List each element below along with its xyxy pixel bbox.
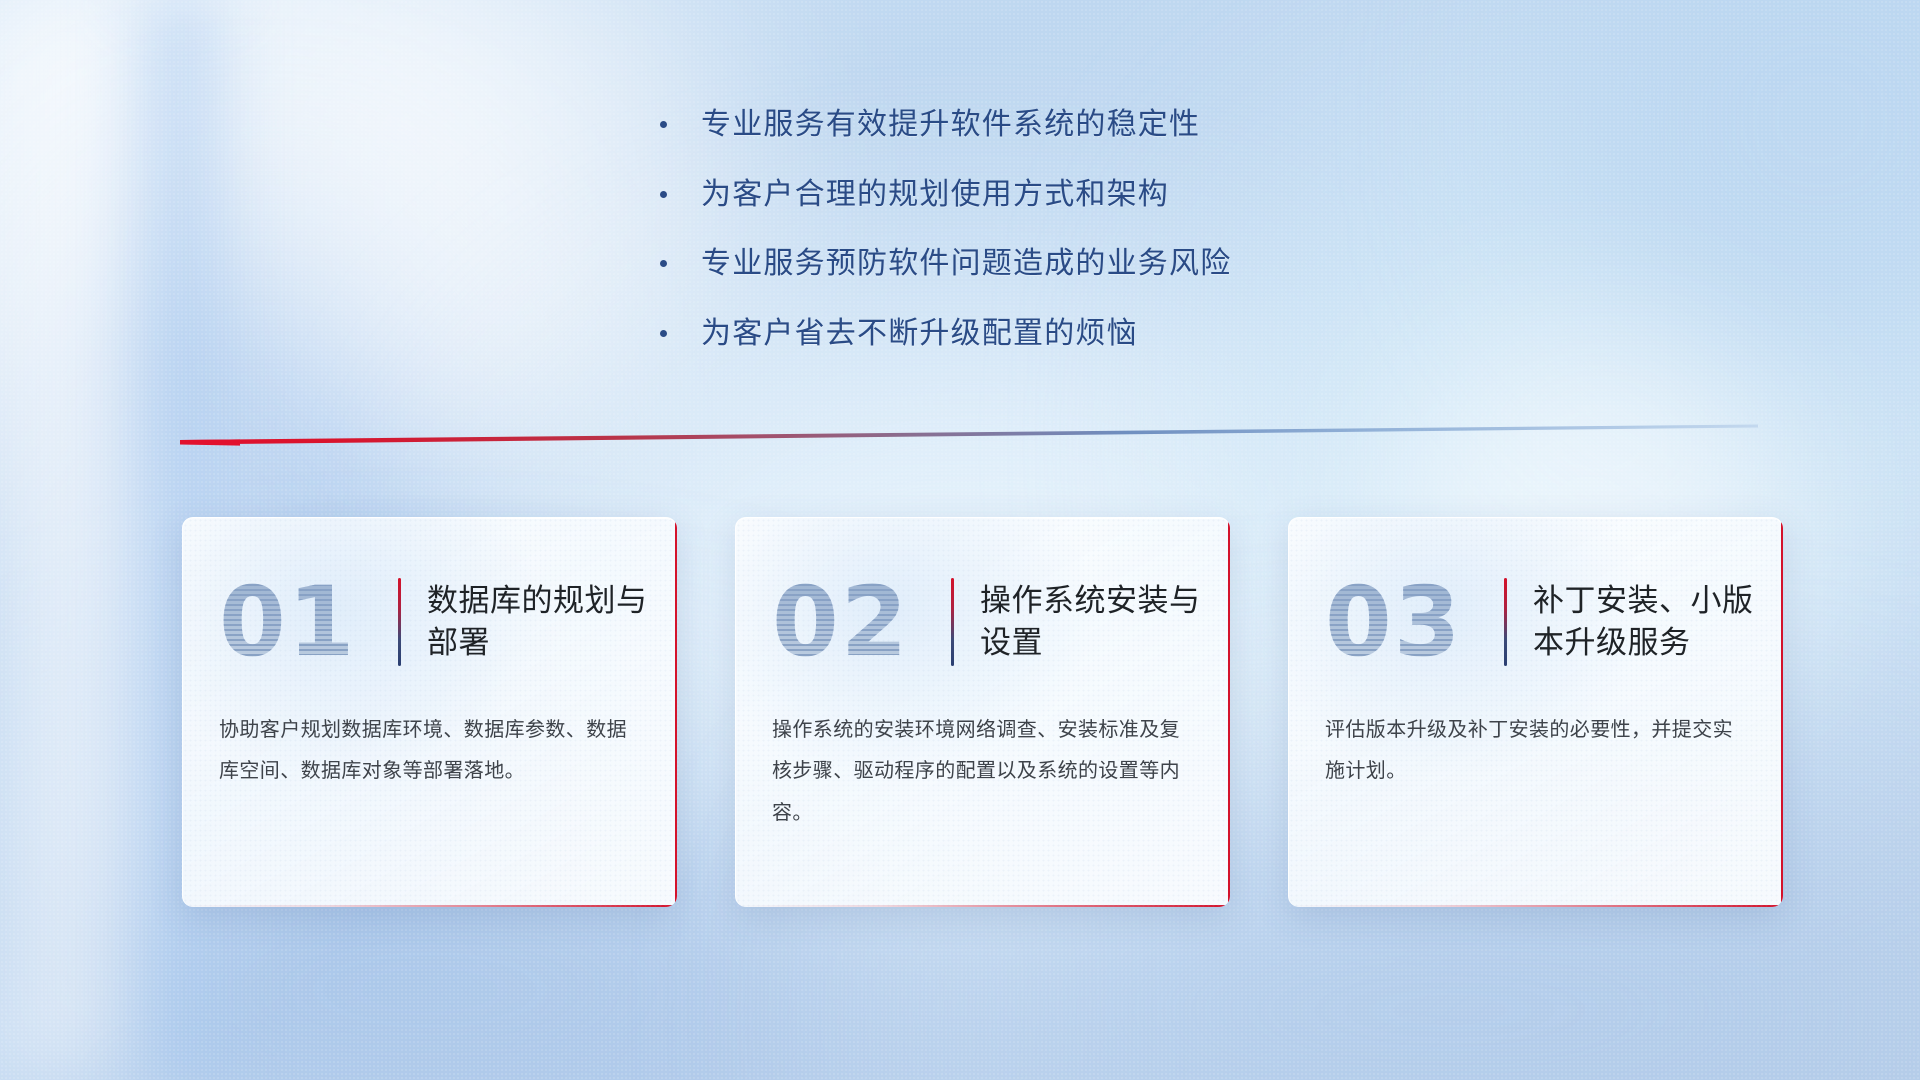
service-card[interactable]: 01 数据库的规划与部署 协助客户规划数据库环境、数据库参数、数据库空间、数据库… [182,517,677,907]
bullet-dot-icon [660,260,667,267]
card-accent-bar [398,578,401,666]
list-item: 专业服务有效提升软件系统的稳定性 [660,108,1231,143]
card-description: 协助客户规划数据库环境、数据库参数、数据库空间、数据库对象等部署落地。 [183,678,677,793]
section-divider [180,424,1758,450]
card-title: 补丁安装、小版本升级服务 [1533,580,1783,663]
list-item: 专业服务预防软件问题造成的业务风险 [660,247,1231,282]
card-number-watermark: 02 [772,574,951,670]
bullet-text: 专业服务有效提升软件系统的稳定性 [701,108,1200,143]
bullet-text: 为客户合理的规划使用方式和架构 [701,178,1169,213]
list-item: 为客户省去不断升级配置的烦恼 [660,317,1231,352]
card-number-watermark: 03 [1325,574,1504,670]
card-description: 操作系统的安装环境网络调查、安装标准及复核步骤、驱动程序的配置以及系统的设置等内… [736,678,1230,834]
bullet-text: 专业服务预防软件问题造成的业务风险 [701,247,1231,282]
card-title: 操作系统安装与设置 [980,580,1230,663]
card-accent-bar [1504,578,1507,666]
service-card-group: 01 数据库的规划与部署 协助客户规划数据库环境、数据库参数、数据库空间、数据库… [182,517,1783,907]
bullet-dot-icon [660,330,667,337]
card-header: 02 操作系统安装与设置 [736,518,1230,678]
card-number-watermark: 01 [219,574,398,670]
bullet-dot-icon [660,191,667,198]
benefits-bullet-list: 专业服务有效提升软件系统的稳定性 为客户合理的规划使用方式和架构 专业服务预防软… [660,108,1231,351]
service-card[interactable]: 03 补丁安装、小版本升级服务 评估版本升级及补丁安装的必要性，并提交实施计划。 [1288,517,1783,907]
card-accent-bar [951,578,954,666]
divider-line-icon [180,424,1758,450]
bullet-dot-icon [660,121,667,128]
card-header: 01 数据库的规划与部署 [183,518,677,678]
card-description: 评估版本升级及补丁安装的必要性，并提交实施计划。 [1289,678,1783,793]
card-header: 03 补丁安装、小版本升级服务 [1289,518,1783,678]
bullet-text: 为客户省去不断升级配置的烦恼 [701,317,1138,352]
card-title: 数据库的规划与部署 [427,580,677,663]
list-item: 为客户合理的规划使用方式和架构 [660,178,1231,213]
service-card[interactable]: 02 操作系统安装与设置 操作系统的安装环境网络调查、安装标准及复核步骤、驱动程… [735,517,1230,907]
